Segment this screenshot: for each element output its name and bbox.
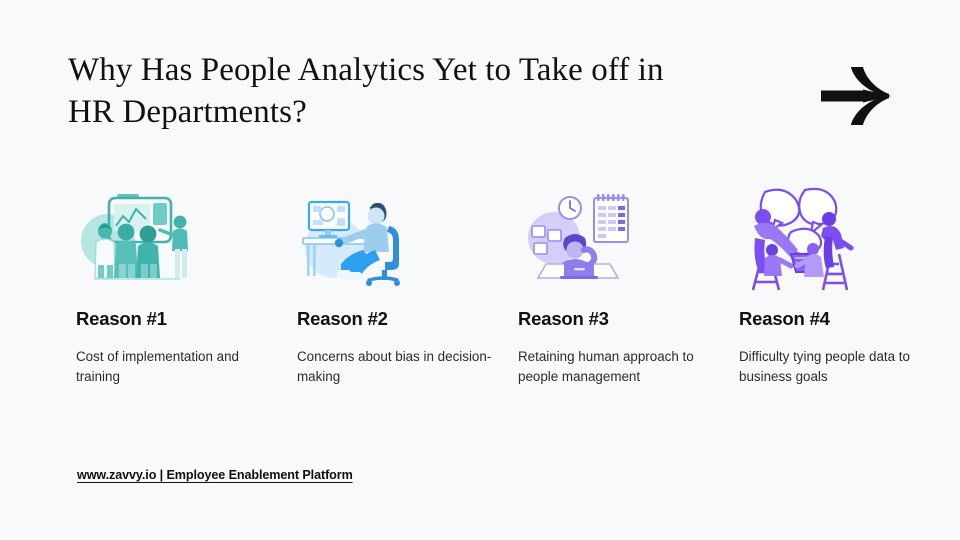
reason-body: Concerns about bias in decision-making	[297, 347, 492, 388]
footer-website-link[interactable]: www.zavvy.io | Employee Enablement Platf…	[77, 468, 353, 482]
person-at-desk-computer-illustration	[297, 186, 417, 294]
arrow-right-icon	[818, 63, 894, 129]
reason-column-3: Reason #3 Retaining human approach to pe…	[518, 186, 739, 388]
team-presentation-illustration	[76, 186, 196, 294]
reason-heading: Reason #2	[297, 308, 518, 330]
person-laptop-calendar-illustration	[518, 186, 638, 294]
reason-body: Retaining human approach to people manag…	[518, 347, 713, 388]
reason-column-2: Reason #2 Concerns about bias in decisio…	[297, 186, 518, 388]
people-ladders-speech-bubbles-illustration	[739, 186, 859, 294]
reason-column-1: Reason #1 Cost of implementation and tra…	[76, 186, 297, 388]
reason-body: Difficulty tying people data to business…	[739, 347, 934, 388]
reason-heading: Reason #1	[76, 308, 297, 330]
page-title: Why Has People Analytics Yet to Take off…	[68, 50, 668, 133]
slide-canvas: Why Has People Analytics Yet to Take off…	[0, 0, 960, 540]
reasons-row: Reason #1 Cost of implementation and tra…	[76, 186, 960, 388]
reason-body: Cost of implementation and training	[76, 347, 271, 388]
reason-column-4: Reason #4 Difficulty tying people data t…	[739, 186, 960, 388]
reason-heading: Reason #3	[518, 308, 739, 330]
reason-heading: Reason #4	[739, 308, 960, 330]
